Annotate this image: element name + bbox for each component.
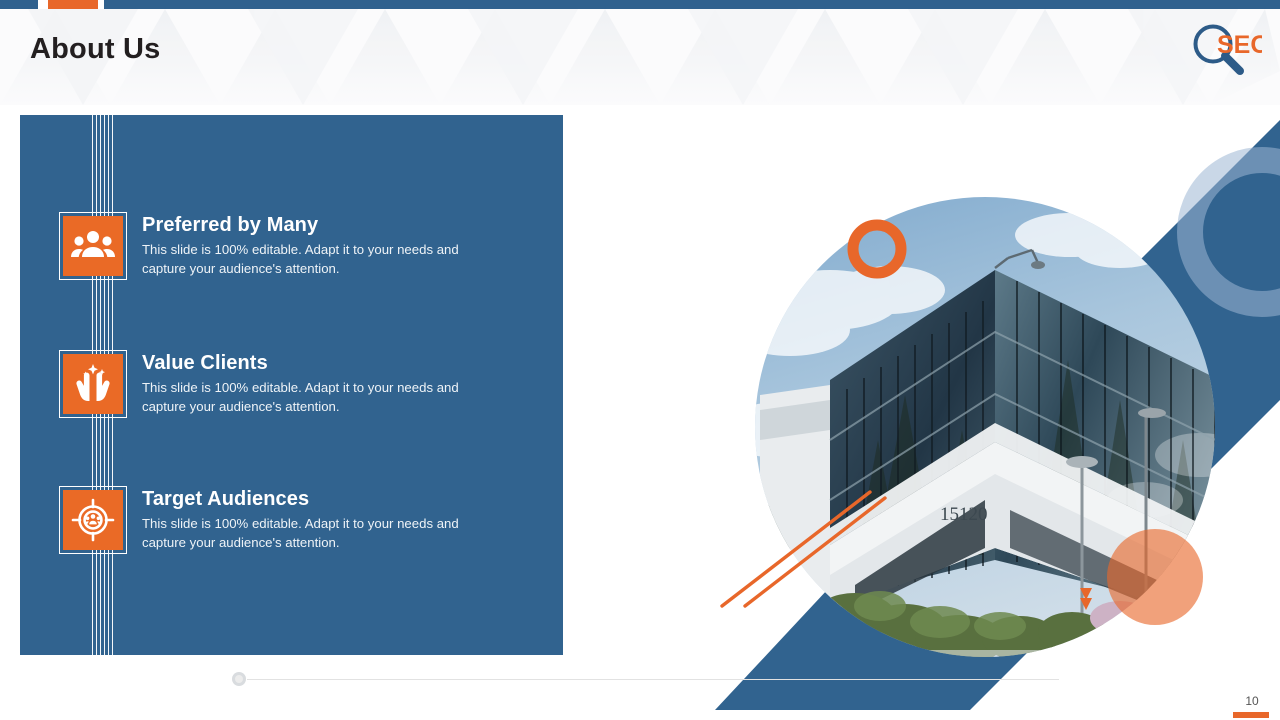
feature-item-target-audiences[interactable]: Target Audiences This slide is 100% edit… (63, 490, 533, 560)
page-number: 10 (1239, 694, 1265, 708)
artwork-area: 15120 (640, 0, 1280, 720)
slide-canvas: About Us SEO Preferred b (0, 0, 1280, 720)
feature-title: Preferred by Many (142, 213, 532, 238)
page-title: About Us (30, 33, 160, 66)
feature-title: Value Clients (142, 351, 532, 376)
salmon-circle (1107, 529, 1203, 625)
bottom-divider-dot (232, 672, 246, 686)
group-of-people-icon (63, 216, 123, 276)
feature-item-value-clients[interactable]: Value Clients This slide is 100% editabl… (63, 354, 533, 424)
topbar-segment-blue-left (0, 0, 38, 9)
feature-item-preferred-by-many[interactable]: Preferred by Many This slide is 100% edi… (63, 216, 533, 286)
feature-body: This slide is 100% editable. Adapt it to… (142, 241, 504, 278)
feature-text-block: Value Clients This slide is 100% editabl… (142, 351, 532, 416)
page-number-accent-bar (1233, 712, 1269, 718)
feature-body: This slide is 100% editable. Adapt it to… (142, 379, 504, 416)
feature-body: This slide is 100% editable. Adapt it to… (142, 515, 504, 552)
feature-title: Target Audiences (142, 487, 532, 512)
building-number-text: 15120 (940, 504, 988, 525)
feature-text-block: Preferred by Many This slide is 100% edi… (142, 213, 532, 278)
target-audience-icon (63, 490, 123, 550)
bottom-divider-line (247, 679, 1059, 680)
feature-text-block: Target Audiences This slide is 100% edit… (142, 487, 532, 552)
hands-with-sparkles-icon (63, 354, 123, 414)
topbar-segment-orange (48, 0, 98, 9)
